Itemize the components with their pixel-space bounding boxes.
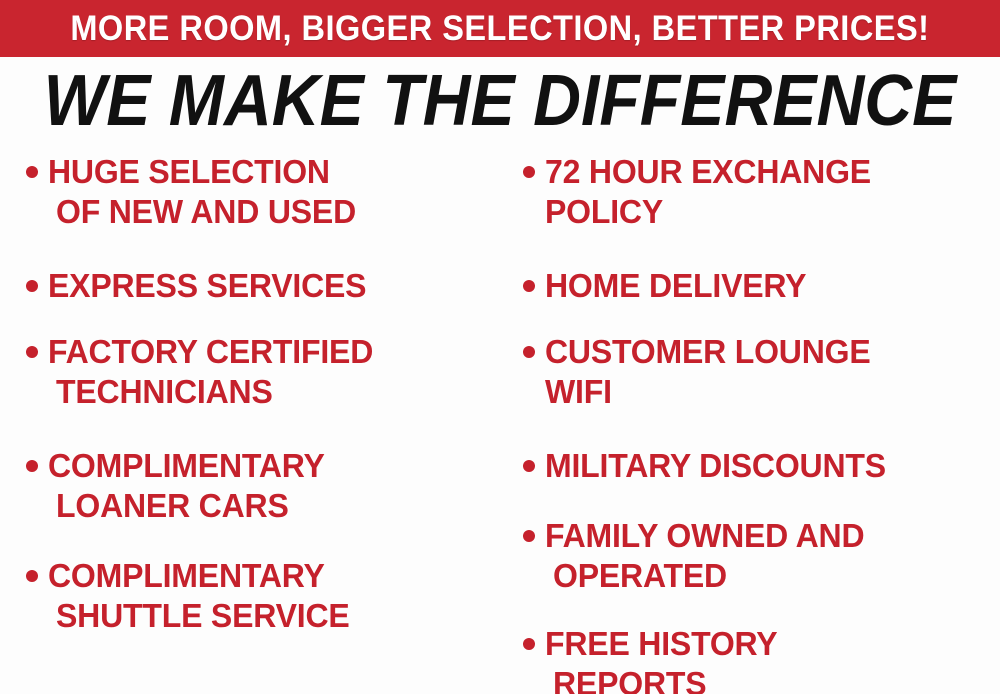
list-item-line-2: OPERATED <box>553 556 1000 596</box>
list-item-text: FACTORY CERTIFIED TECHNICIANS <box>48 332 504 412</box>
list-item-line-2: WIFI <box>545 372 1000 412</box>
list-item-line-1: COMPLIMENTARY <box>48 556 490 596</box>
list-item-line-1: HUGE SELECTION <box>48 152 490 192</box>
list-item-text: MILITARY DISCOUNTS <box>545 446 1000 486</box>
list-item-text: COMPLIMENTARY SHUTTLE SERVICE <box>48 556 504 636</box>
list-item-line-2: POLICY <box>545 192 1000 232</box>
list-item-text: HOME DELIVERY <box>545 266 1000 306</box>
features-columns: HUGE SELECTION OF NEW AND USED EXPRESS S… <box>0 152 1000 694</box>
list-item-line-1: COMPLIMENTARY <box>48 446 490 486</box>
list-item-line-1: CUSTOMER LOUNGE <box>545 332 1000 372</box>
list-item-line-1: EXPRESS SERVICES <box>48 266 490 306</box>
list-item-text: FREE HISTORY REPORTS <box>545 624 1000 694</box>
list-item: FREE HISTORY REPORTS <box>515 624 1000 694</box>
list-item: MILITARY DISCOUNTS <box>515 446 1000 486</box>
list-item: CUSTOMER LOUNGE WIFI <box>515 332 1000 412</box>
list-item-line-2: REPORTS <box>553 664 1000 694</box>
banner-headline-text: MORE ROOM, BIGGER SELECTION, BETTER PRIC… <box>70 11 929 46</box>
page-title: WE MAKE THE DIFFERENCE <box>44 65 957 137</box>
top-banner: MORE ROOM, BIGGER SELECTION, BETTER PRIC… <box>0 0 1000 57</box>
list-item: HUGE SELECTION OF NEW AND USED <box>18 152 504 232</box>
bullet-dot-icon <box>523 346 535 358</box>
list-item-line-2: SHUTTLE SERVICE <box>56 596 491 636</box>
bullet-dot-icon <box>523 530 535 542</box>
list-item-line-2: LOANER CARS <box>56 486 491 526</box>
list-item: 72 HOUR EXCHANGE POLICY <box>515 152 1000 232</box>
list-item-text: COMPLIMENTARY LOANER CARS <box>48 446 504 526</box>
list-item-line-2: TECHNICIANS <box>56 372 491 412</box>
features-column-left: HUGE SELECTION OF NEW AND USED EXPRESS S… <box>18 152 504 664</box>
list-item: FACTORY CERTIFIED TECHNICIANS <box>18 332 504 412</box>
features-column-right: 72 HOUR EXCHANGE POLICY HOME DELIVERY CU… <box>515 152 1000 694</box>
bullet-dot-icon <box>523 638 535 650</box>
list-item: COMPLIMENTARY LOANER CARS <box>18 446 504 526</box>
list-item-line-1: MILITARY DISCOUNTS <box>545 446 1000 486</box>
list-item-text: CUSTOMER LOUNGE WIFI <box>545 332 1000 412</box>
main-headline-container: WE MAKE THE DIFFERENCE <box>0 62 1000 140</box>
list-item-text: FAMILY OWNED AND OPERATED <box>545 516 1000 596</box>
bullet-dot-icon <box>523 460 535 472</box>
bullet-dot-icon <box>26 570 38 582</box>
bullet-dot-icon <box>26 166 38 178</box>
list-item-line-1: FAMILY OWNED AND <box>545 516 1000 556</box>
bullet-dot-icon <box>26 460 38 472</box>
list-item-text: 72 HOUR EXCHANGE POLICY <box>545 152 1000 232</box>
list-item-line-1: 72 HOUR EXCHANGE <box>545 152 1000 192</box>
list-item: FAMILY OWNED AND OPERATED <box>515 516 1000 596</box>
list-item-line-1: FACTORY CERTIFIED <box>48 332 490 372</box>
bullet-dot-icon <box>523 280 535 292</box>
list-item: HOME DELIVERY <box>515 266 1000 306</box>
list-item-text: EXPRESS SERVICES <box>48 266 504 306</box>
list-item-line-2: OF NEW AND USED <box>56 192 491 232</box>
bullet-dot-icon <box>26 280 38 292</box>
list-item-text: HUGE SELECTION OF NEW AND USED <box>48 152 504 232</box>
list-item: COMPLIMENTARY SHUTTLE SERVICE <box>18 556 504 636</box>
bullet-dot-icon <box>26 346 38 358</box>
bullet-dot-icon <box>523 166 535 178</box>
promo-poster: MORE ROOM, BIGGER SELECTION, BETTER PRIC… <box>0 0 1000 694</box>
list-item: EXPRESS SERVICES <box>18 266 504 306</box>
list-item-line-1: HOME DELIVERY <box>545 266 1000 306</box>
list-item-line-1: FREE HISTORY <box>545 624 1000 664</box>
